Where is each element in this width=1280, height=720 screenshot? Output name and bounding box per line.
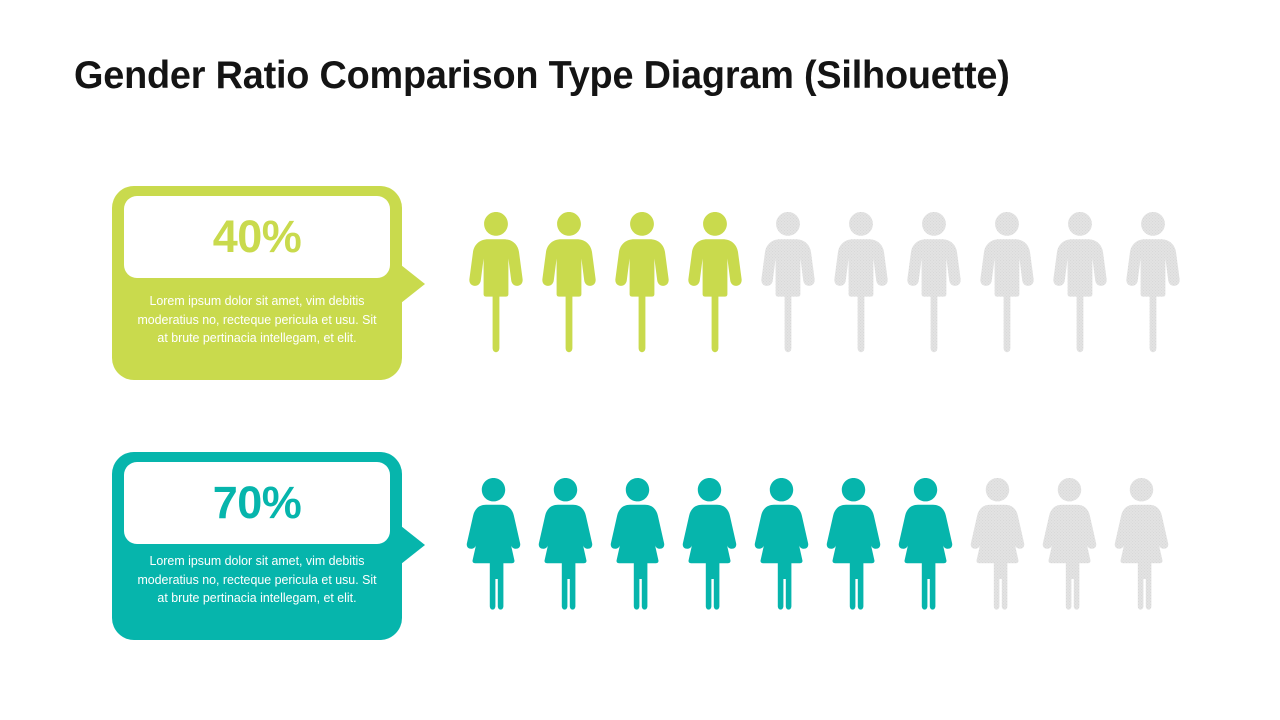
female-silhouette-icon-active: [682, 475, 737, 612]
male-silhouette-icon-inactive: [906, 209, 962, 355]
description-male: Lorem ipsum dolor sit amet, vim debitis …: [134, 292, 380, 348]
male-silhouette-icon-active: [687, 209, 743, 355]
slide-canvas: Gender Ratio Comparison Type Diagram (Si…: [0, 0, 1280, 720]
female-silhouette-icon-active: [610, 475, 665, 612]
female-silhouette-icon-inactive: [970, 475, 1025, 612]
male-silhouette-icon-active: [541, 209, 597, 355]
male-silhouette-icon-inactive: [1125, 209, 1181, 355]
male-silhouette-icon-inactive: [979, 209, 1035, 355]
female-silhouette-icon-inactive: [1042, 475, 1097, 612]
male-silhouette-icon-inactive: [760, 209, 816, 355]
male-silhouette-icon-inactive: [833, 209, 889, 355]
female-silhouette-icon-active: [538, 475, 593, 612]
callout-card-female[interactable]: 70% Lorem ipsum dolor sit amet, vim debi…: [112, 452, 402, 640]
description-female: Lorem ipsum dolor sit amet, vim debitis …: [134, 552, 380, 608]
callout-tail-male: [401, 265, 425, 303]
male-silhouette-icon-active: [614, 209, 670, 355]
callout-tail-female: [401, 526, 425, 564]
value-label-female: 70%: [213, 480, 302, 525]
value-label-male: 40%: [213, 214, 302, 259]
female-silhouette-icon-active: [898, 475, 953, 612]
female-silhouette-icon-active: [754, 475, 809, 612]
female-silhouette-icon-active: [466, 475, 521, 612]
value-box-female: 70%: [124, 462, 390, 544]
callout-card-male[interactable]: 40% Lorem ipsum dolor sit amet, vim debi…: [112, 186, 402, 380]
value-box-male: 40%: [124, 196, 390, 278]
pictogram-row-female: [466, 472, 1169, 612]
female-silhouette-icon-active: [826, 475, 881, 612]
page-title: Gender Ratio Comparison Type Diagram (Si…: [74, 48, 1180, 104]
pictogram-row-male: [468, 205, 1181, 355]
male-silhouette-icon-inactive: [1052, 209, 1108, 355]
male-silhouette-icon-active: [468, 209, 524, 355]
female-silhouette-icon-inactive: [1114, 475, 1169, 612]
